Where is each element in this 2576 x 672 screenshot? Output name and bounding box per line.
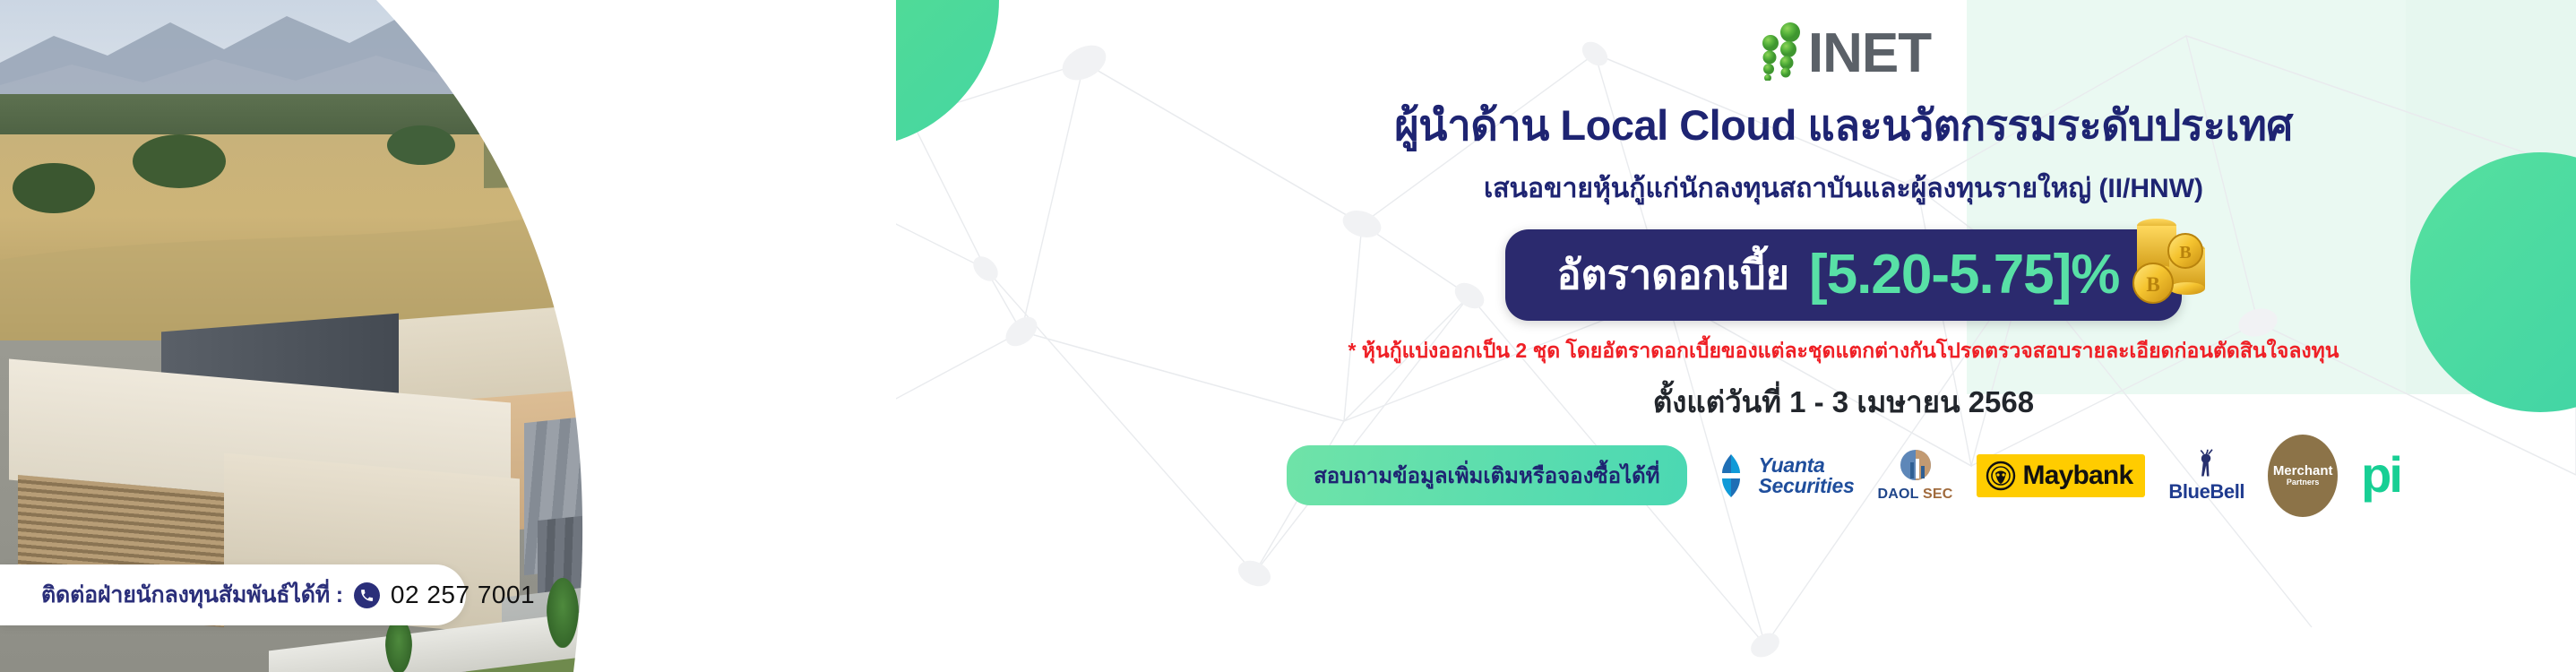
interest-rate-label: อัตราดอกเบี้ย — [1557, 242, 1790, 306]
bluebell-deer-icon — [2190, 448, 2224, 478]
phone-icon — [354, 582, 380, 608]
banner-content: INET ผู้นำด้าน Local Cloud และนวัตกรรมระ… — [1111, 0, 2576, 672]
inet-logo: INET — [1756, 16, 1931, 81]
svg-text:B: B — [2147, 273, 2160, 296]
page-title: ผู้นำด้าน Local Cloud และนวัตกรรมระดับปร… — [1394, 91, 2293, 159]
disclaimer-text: * หุ้นกู้แบ่งออกเป็น 2 ชุด โดยอัตราดอกเบ… — [1348, 335, 2339, 367]
page-subtitle: เสนอขายหุ้นกู้แก่นักลงทุนสถาบันและผู้ลงท… — [1484, 168, 2203, 210]
partner-name-line2: Securities — [1759, 476, 1855, 496]
partner-name-line1: DAOL — [1877, 487, 1918, 502]
svg-text:B: B — [2180, 243, 2192, 263]
partner-name-line2: Partners — [2287, 478, 2320, 487]
partner-logo-pi[interactable]: pi — [2361, 448, 2400, 504]
partner-logo-yuanta[interactable]: Yuanta Securities — [1710, 448, 1855, 504]
pi-logo-icon: pi — [2361, 455, 2400, 495]
investor-relations-contact[interactable]: ติดต่อฝ่ายนักลงทุนสัมพันธ์ได้ที่ : 02 25… — [0, 564, 466, 625]
partner-logo-bluebell[interactable]: BlueBell — [2168, 448, 2244, 504]
promotional-banner: ติดต่อฝ่ายนักลงทุนสัมพันธ์ได้ที่ : 02 25… — [0, 0, 2576, 672]
yuanta-logo-icon — [1710, 452, 1752, 499]
maybank-tiger-icon — [1986, 461, 2016, 491]
contact-phone-number[interactable]: 02 257 7001 — [391, 581, 535, 609]
partner-name-line1: Merchant — [2273, 464, 2333, 478]
daol-logo-icon — [1896, 448, 1935, 484]
partner-name-line1: BlueBell — [2168, 480, 2244, 504]
interest-rate-box: อัตราดอกเบี้ย [5.20-5.75]% — [1505, 229, 2183, 321]
partners-row: สอบถามข้อมูลเพิ่มเติมหรือจองซื้อได้ที่ Y… — [1287, 445, 2400, 505]
inet-dots-logo-icon — [1756, 22, 1805, 81]
interest-rate-value: [5.20-5.75]% — [1809, 243, 2119, 306]
inet-logo-text: INET — [1808, 28, 1931, 81]
partner-name-line2: SEC — [1923, 487, 1953, 502]
partner-logo-merchant[interactable]: Merchant Partners — [2268, 448, 2338, 504]
partner-name-line1: Yuanta — [1759, 455, 1855, 476]
inquiry-subscribe-button[interactable]: สอบถามข้อมูลเพิ่มเติมหรือจองซื้อได้ที่ — [1287, 445, 1686, 505]
offer-period-text: ตั้งแต่วันที่ 1 - 3 เมษายน 2568 — [1653, 378, 2034, 426]
partner-name-line1: Maybank — [2023, 461, 2133, 491]
interest-rate-section: อัตราดอกเบี้ย [5.20-5.75]% — [1505, 229, 2183, 321]
merchant-partners-icon: Merchant Partners — [2268, 435, 2338, 517]
partner-logo-maybank[interactable]: Maybank — [1977, 448, 2146, 504]
partner-logo-daol[interactable]: DAOL SEC — [1877, 448, 1952, 504]
contact-label: ติดต่อฝ่ายนักลงทุนสัมพันธ์ได้ที่ : — [41, 577, 343, 613]
gold-coins-icon: B B — [2110, 210, 2216, 315]
